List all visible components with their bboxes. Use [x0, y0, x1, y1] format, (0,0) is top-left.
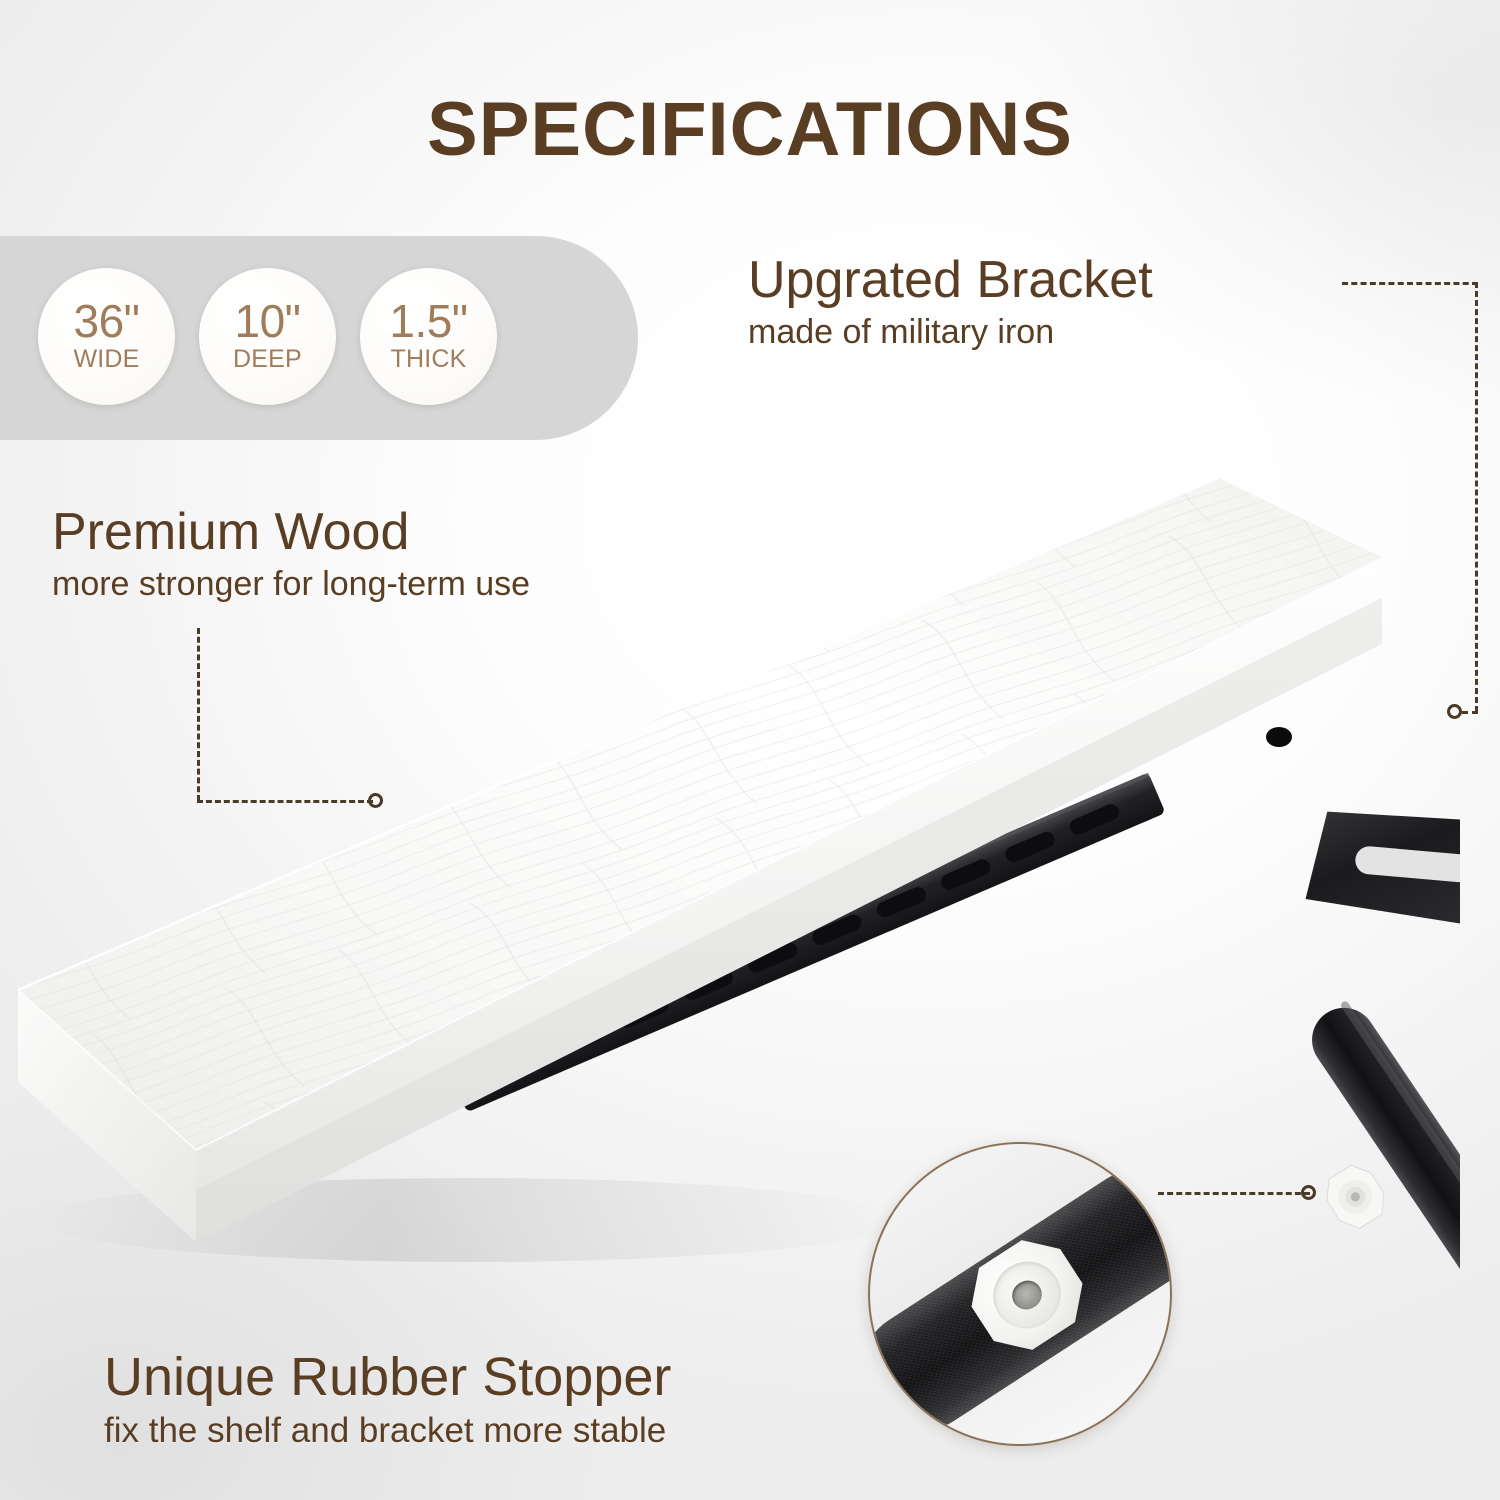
- callout-premium-wood: Premium Wood more stronger for long-term…: [52, 504, 530, 605]
- spec-badge-unit: DEEP: [233, 344, 302, 375]
- rubber-stopper-detail-zoom: [868, 1142, 1172, 1446]
- specifications-infographic: SPECIFICATIONS 36" WIDE 10" DEEP 1.5" TH…: [0, 0, 1500, 1500]
- spec-badge-unit: THICK: [391, 344, 467, 375]
- spec-badge-value: 1.5": [389, 298, 467, 344]
- page-title: SPECIFICATIONS: [0, 86, 1500, 173]
- spec-badge-width: 36" WIDE: [38, 268, 175, 405]
- callout-subheading: fix the shelf and bracket more stable: [104, 1410, 671, 1452]
- spec-badge-thickness: 1.5" THICK: [360, 268, 497, 405]
- spec-badge-group: 36" WIDE 10" DEEP 1.5" THICK: [38, 268, 497, 405]
- spec-badge-value: 36": [74, 298, 140, 344]
- spec-badge-unit: WIDE: [73, 344, 139, 375]
- callout-heading: Unique Rubber Stopper: [104, 1348, 671, 1406]
- callout-heading: Premium Wood: [52, 504, 530, 560]
- callout-subheading: made of military iron: [748, 312, 1153, 353]
- callout-rubber-stopper: Unique Rubber Stopper fix the shelf and …: [104, 1348, 671, 1452]
- callout-subheading: more stronger for long-term use: [52, 564, 530, 605]
- leader-segment-horizontal: [1342, 282, 1478, 285]
- wall-bracket-front: [1300, 783, 1460, 1280]
- callout-heading: Upgrated Bracket: [748, 252, 1153, 308]
- spec-badge-depth: 10" DEEP: [199, 268, 336, 405]
- callout-upgraded-bracket: Upgrated Bracket made of military iron: [748, 252, 1153, 353]
- leader-segment-stub: [1462, 711, 1478, 714]
- spec-badge-value: 10": [235, 298, 301, 344]
- leader-segment-vertical: [1475, 282, 1478, 712]
